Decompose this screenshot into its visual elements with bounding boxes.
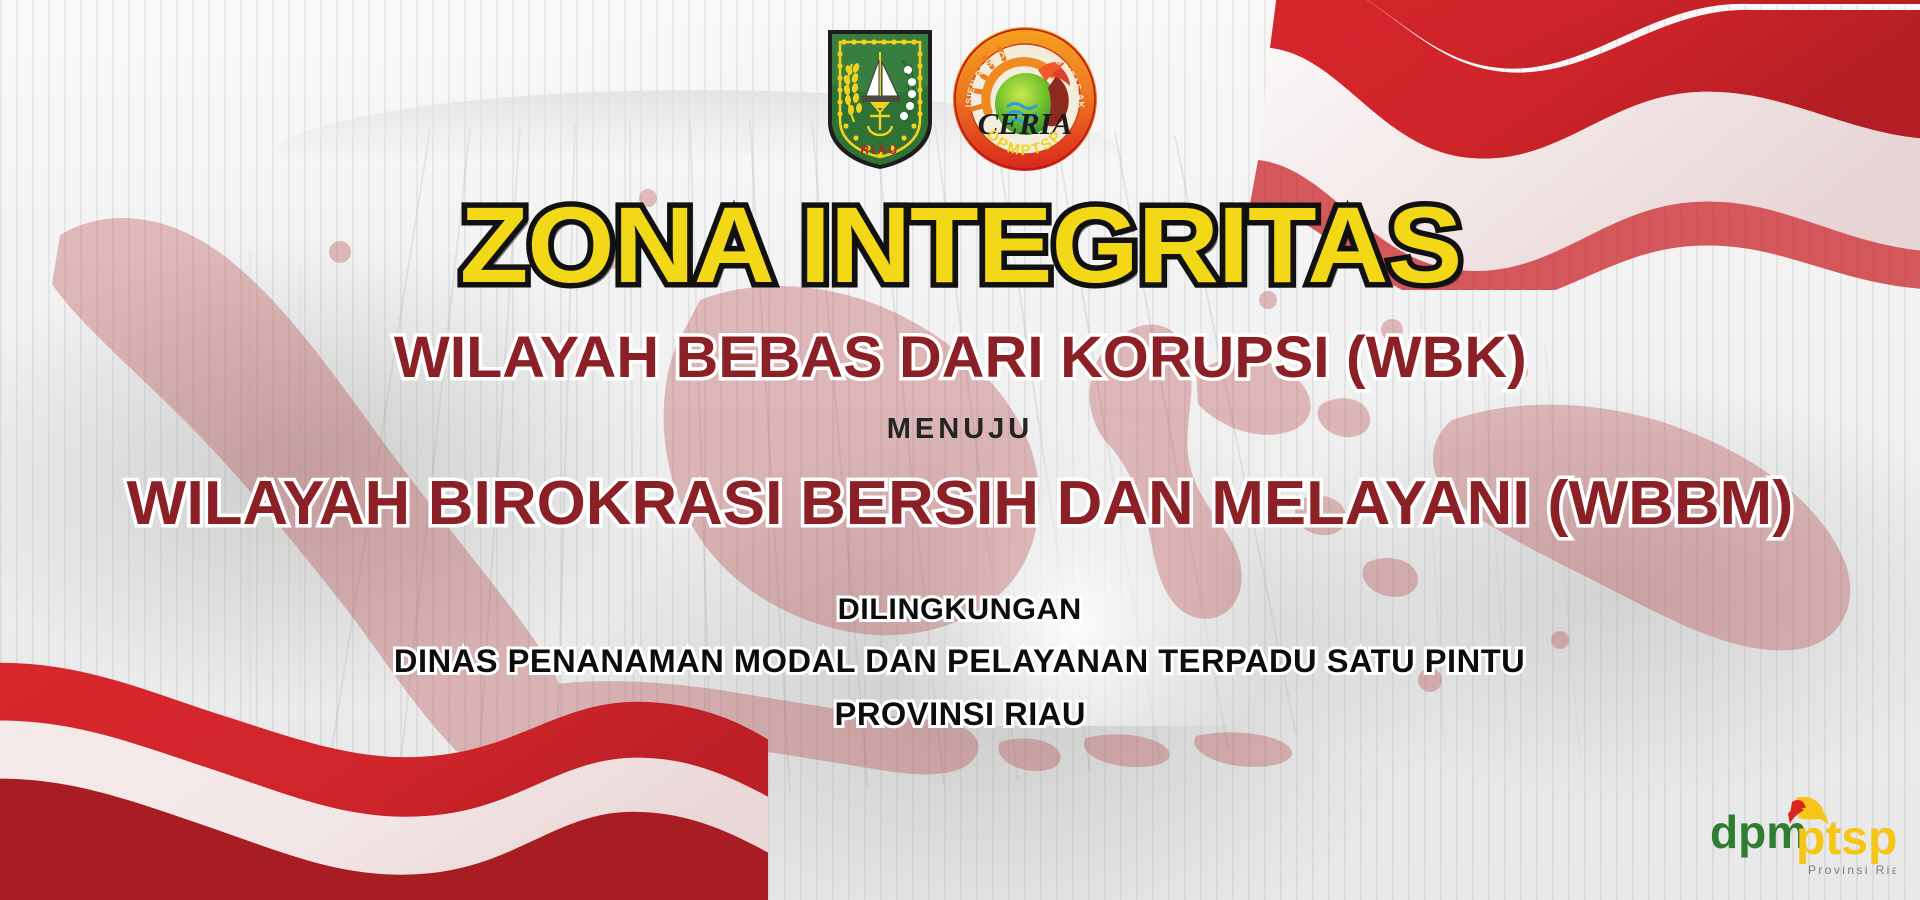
logo-row: RIAU xyxy=(822,26,1098,176)
zona-integritas-banner: RIAU xyxy=(0,0,1920,900)
footer-text-block: DILINGKUNGAN DINAS PENANAMAN MODAL DAN P… xyxy=(405,593,1514,733)
dpmptsp-tagline: Provinsi Riau xyxy=(1808,863,1896,877)
footer-line-dilingkungan: DILINGKUNGAN xyxy=(838,593,1082,627)
banner-content: RIAU xyxy=(0,0,1920,900)
page-title: ZONA INTEGRITAS xyxy=(459,190,1460,300)
ceria-emblem-icon: CERIA CEPAT EFISIEN RESPONSIF INTEGRITAS… xyxy=(952,26,1098,172)
dpmptsp-part-dpm: dpm xyxy=(1710,806,1807,858)
riau-emblem-caption: RIAU xyxy=(860,143,899,157)
footer-line-provinsi: PROVINSI RIAU xyxy=(834,696,1085,733)
footer-line-dinas: DINAS PENANAMAN MODAL DAN PELAYANAN TERP… xyxy=(394,643,1525,680)
dpmptsp-part-ptsp: ptsp xyxy=(1796,812,1896,865)
subtitle-wbk: WILAYAH BEBAS DARI KORUPSI (WBK) xyxy=(394,324,1527,391)
subtitle-wbbm: WILAYAH BIROKRASI BERSIH DAN MELAYANI (W… xyxy=(127,468,1794,539)
connector-menuju: MENUJU xyxy=(887,413,1033,446)
dpmptsp-wordmark-logo: dpm ptsp Provinsi Riau xyxy=(1700,786,1896,882)
riau-emblem-icon: RIAU xyxy=(822,26,938,172)
